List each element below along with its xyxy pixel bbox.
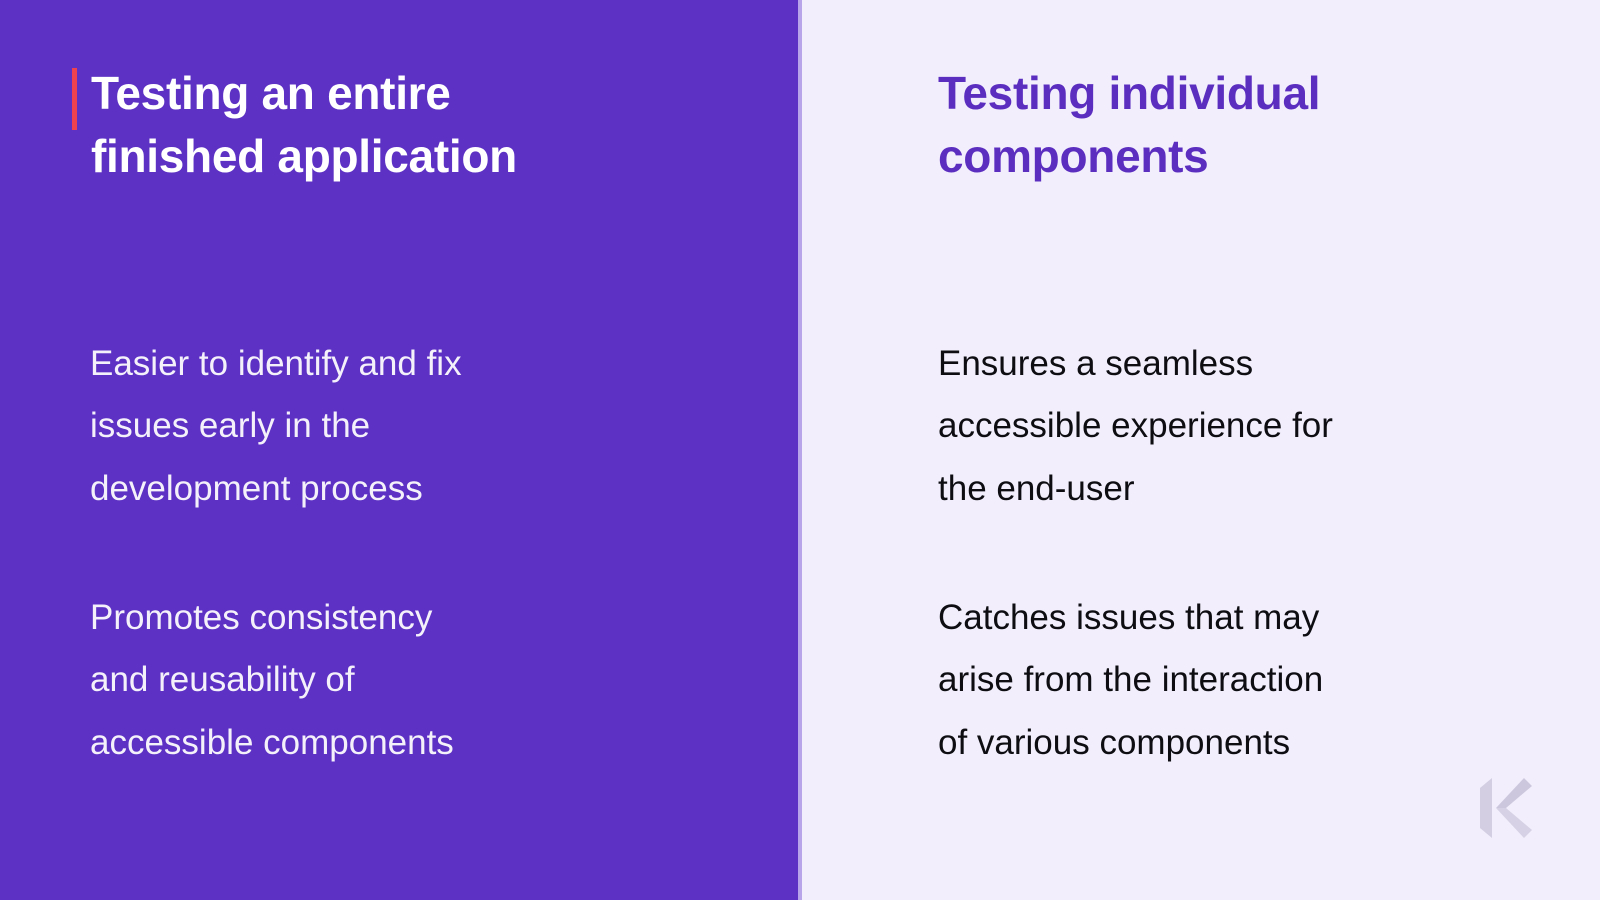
left-point-2: Promotes consistency and reusability of … (90, 587, 660, 774)
left-point-1: Easier to identify and fix issues early … (90, 333, 660, 520)
right-column-heading: Testing individual components (938, 62, 1538, 189)
slide-canvas: Testing an entire finished application E… (0, 0, 1600, 900)
right-point-1: Ensures a seamless accessible experience… (938, 333, 1518, 520)
brand-k-logo-icon (1478, 778, 1534, 838)
left-heading-group: Testing an entire finished application (72, 62, 692, 189)
right-point-2: Catches issues that may arise from the i… (938, 587, 1518, 774)
accent-bar-icon (72, 68, 77, 130)
left-column-heading: Testing an entire finished application (72, 62, 692, 189)
right-heading-group: Testing individual components (938, 62, 1538, 189)
